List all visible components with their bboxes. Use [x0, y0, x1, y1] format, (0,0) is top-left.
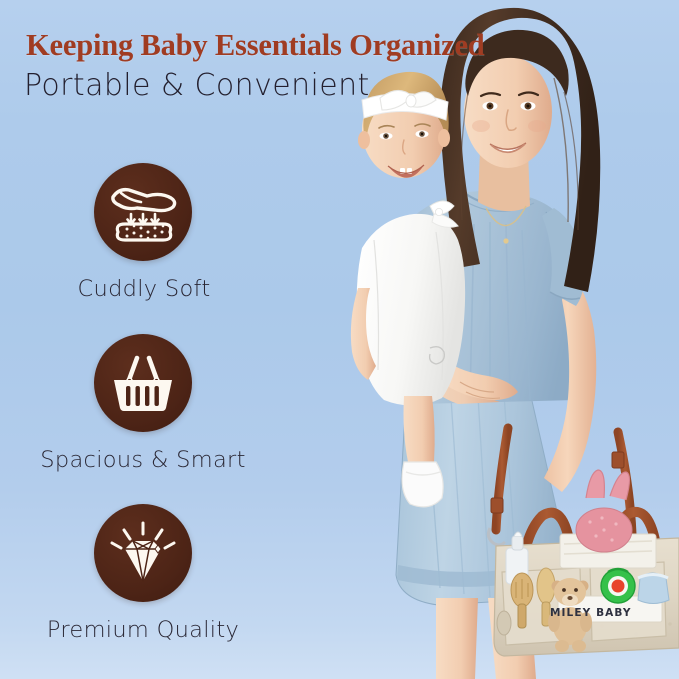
feature-premium-quality: Premium Quality — [0, 504, 290, 643]
feature-icon-badge — [94, 163, 192, 261]
shopping-basket-icon — [110, 352, 176, 414]
feature-icon-badge — [94, 334, 192, 432]
pink-bunny-toy — [576, 470, 632, 552]
blue-cup — [638, 573, 669, 604]
feature-label-cuddly-soft: Cuddly Soft — [0, 276, 290, 302]
bag-brand-label: MILEY BABY — [550, 607, 632, 619]
product-lifestyle-photo: MILEY BABY — [318, 0, 679, 679]
promotional-banner: MILEY BABY Keeping Baby Essentials Organ… — [0, 0, 679, 679]
feature-spacious-smart: Spacious & Smart — [0, 334, 290, 473]
feature-label-premium-quality: Premium Quality — [0, 617, 290, 643]
feature-label-spacious-smart: Spacious & Smart — [0, 447, 290, 473]
diamond-sparkle-icon — [109, 521, 177, 585]
teether-rattle — [601, 569, 635, 603]
page-title: Keeping Baby Essentials Organized — [26, 28, 485, 63]
feature-icon-badge — [94, 504, 192, 602]
hand-pressing-cushion-icon — [107, 180, 179, 244]
page-subtitle: Portable & Convenient — [24, 68, 370, 103]
feature-cuddly-soft: Cuddly Soft — [0, 163, 290, 302]
